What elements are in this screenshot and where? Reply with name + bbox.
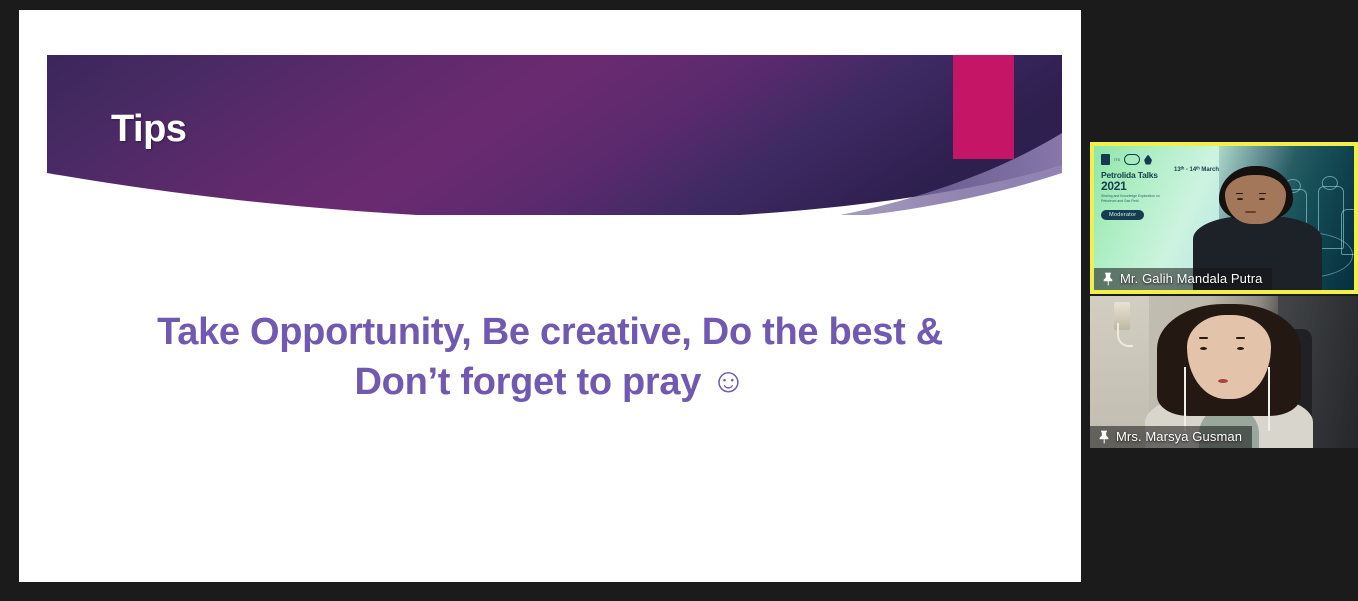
banner-shape bbox=[47, 55, 1062, 215]
participant-name-label-1: Mrs. Marsya Gusman bbox=[1090, 426, 1252, 448]
participant-0-eye-left bbox=[1237, 198, 1243, 201]
book-icon bbox=[1101, 154, 1110, 165]
logo-caption: ITS bbox=[1114, 158, 1120, 162]
gear-icon bbox=[1124, 154, 1140, 165]
smiley-face-icon: ☺ bbox=[701, 362, 745, 400]
event-tagline: Sharing and Knowledge Exploration on Pet… bbox=[1101, 194, 1175, 203]
participant-name-0: Mr. Galih Mandala Putra bbox=[1120, 271, 1262, 286]
participant-1-brow-left bbox=[1199, 337, 1208, 339]
shared-screen-slide[interactable]: Tips Take Opportunity, Be creative, Do t… bbox=[19, 10, 1081, 582]
video-tile-participant-0[interactable]: ITS Petrolida Talks 2021 Sharing and Kno… bbox=[1090, 142, 1358, 294]
pink-accent-rectangle bbox=[953, 55, 1014, 159]
meeting-window: Tips Take Opportunity, Be creative, Do t… bbox=[0, 0, 1358, 601]
participant-0-brow-right bbox=[1259, 193, 1266, 195]
earphone-cord-right bbox=[1268, 367, 1270, 431]
participant-1-eye-left bbox=[1200, 347, 1207, 350]
slide-title-banner bbox=[47, 55, 1062, 215]
participant-0-mouth bbox=[1245, 211, 1256, 213]
oil-drop-icon bbox=[1144, 155, 1152, 165]
slide-body-line-1: Take Opportunity, Be creative, Do the bbox=[157, 311, 818, 353]
pin-icon bbox=[1102, 272, 1114, 286]
participant-name-label-0: Mr. Galih Mandala Putra bbox=[1094, 268, 1272, 290]
slide-title: Tips bbox=[111, 108, 186, 151]
participant-1-eye-right bbox=[1237, 347, 1244, 350]
video-tile-participant-1[interactable]: Mrs. Marsya Gusman bbox=[1090, 296, 1358, 448]
slide-body-text: Take Opportunity, Be creative, Do the be… bbox=[19, 307, 1081, 407]
earphone-cord-left bbox=[1184, 367, 1186, 431]
participant-name-1: Mrs. Marsya Gusman bbox=[1116, 429, 1242, 444]
participant-1-brow-right bbox=[1236, 337, 1245, 339]
role-badge: Moderator bbox=[1101, 210, 1144, 220]
participant-1-mouth bbox=[1218, 379, 1228, 383]
logo-row: ITS bbox=[1101, 154, 1211, 165]
pin-icon bbox=[1098, 430, 1110, 444]
participant-0-eye-right bbox=[1259, 198, 1265, 201]
participant-0-brow-left bbox=[1236, 193, 1243, 195]
